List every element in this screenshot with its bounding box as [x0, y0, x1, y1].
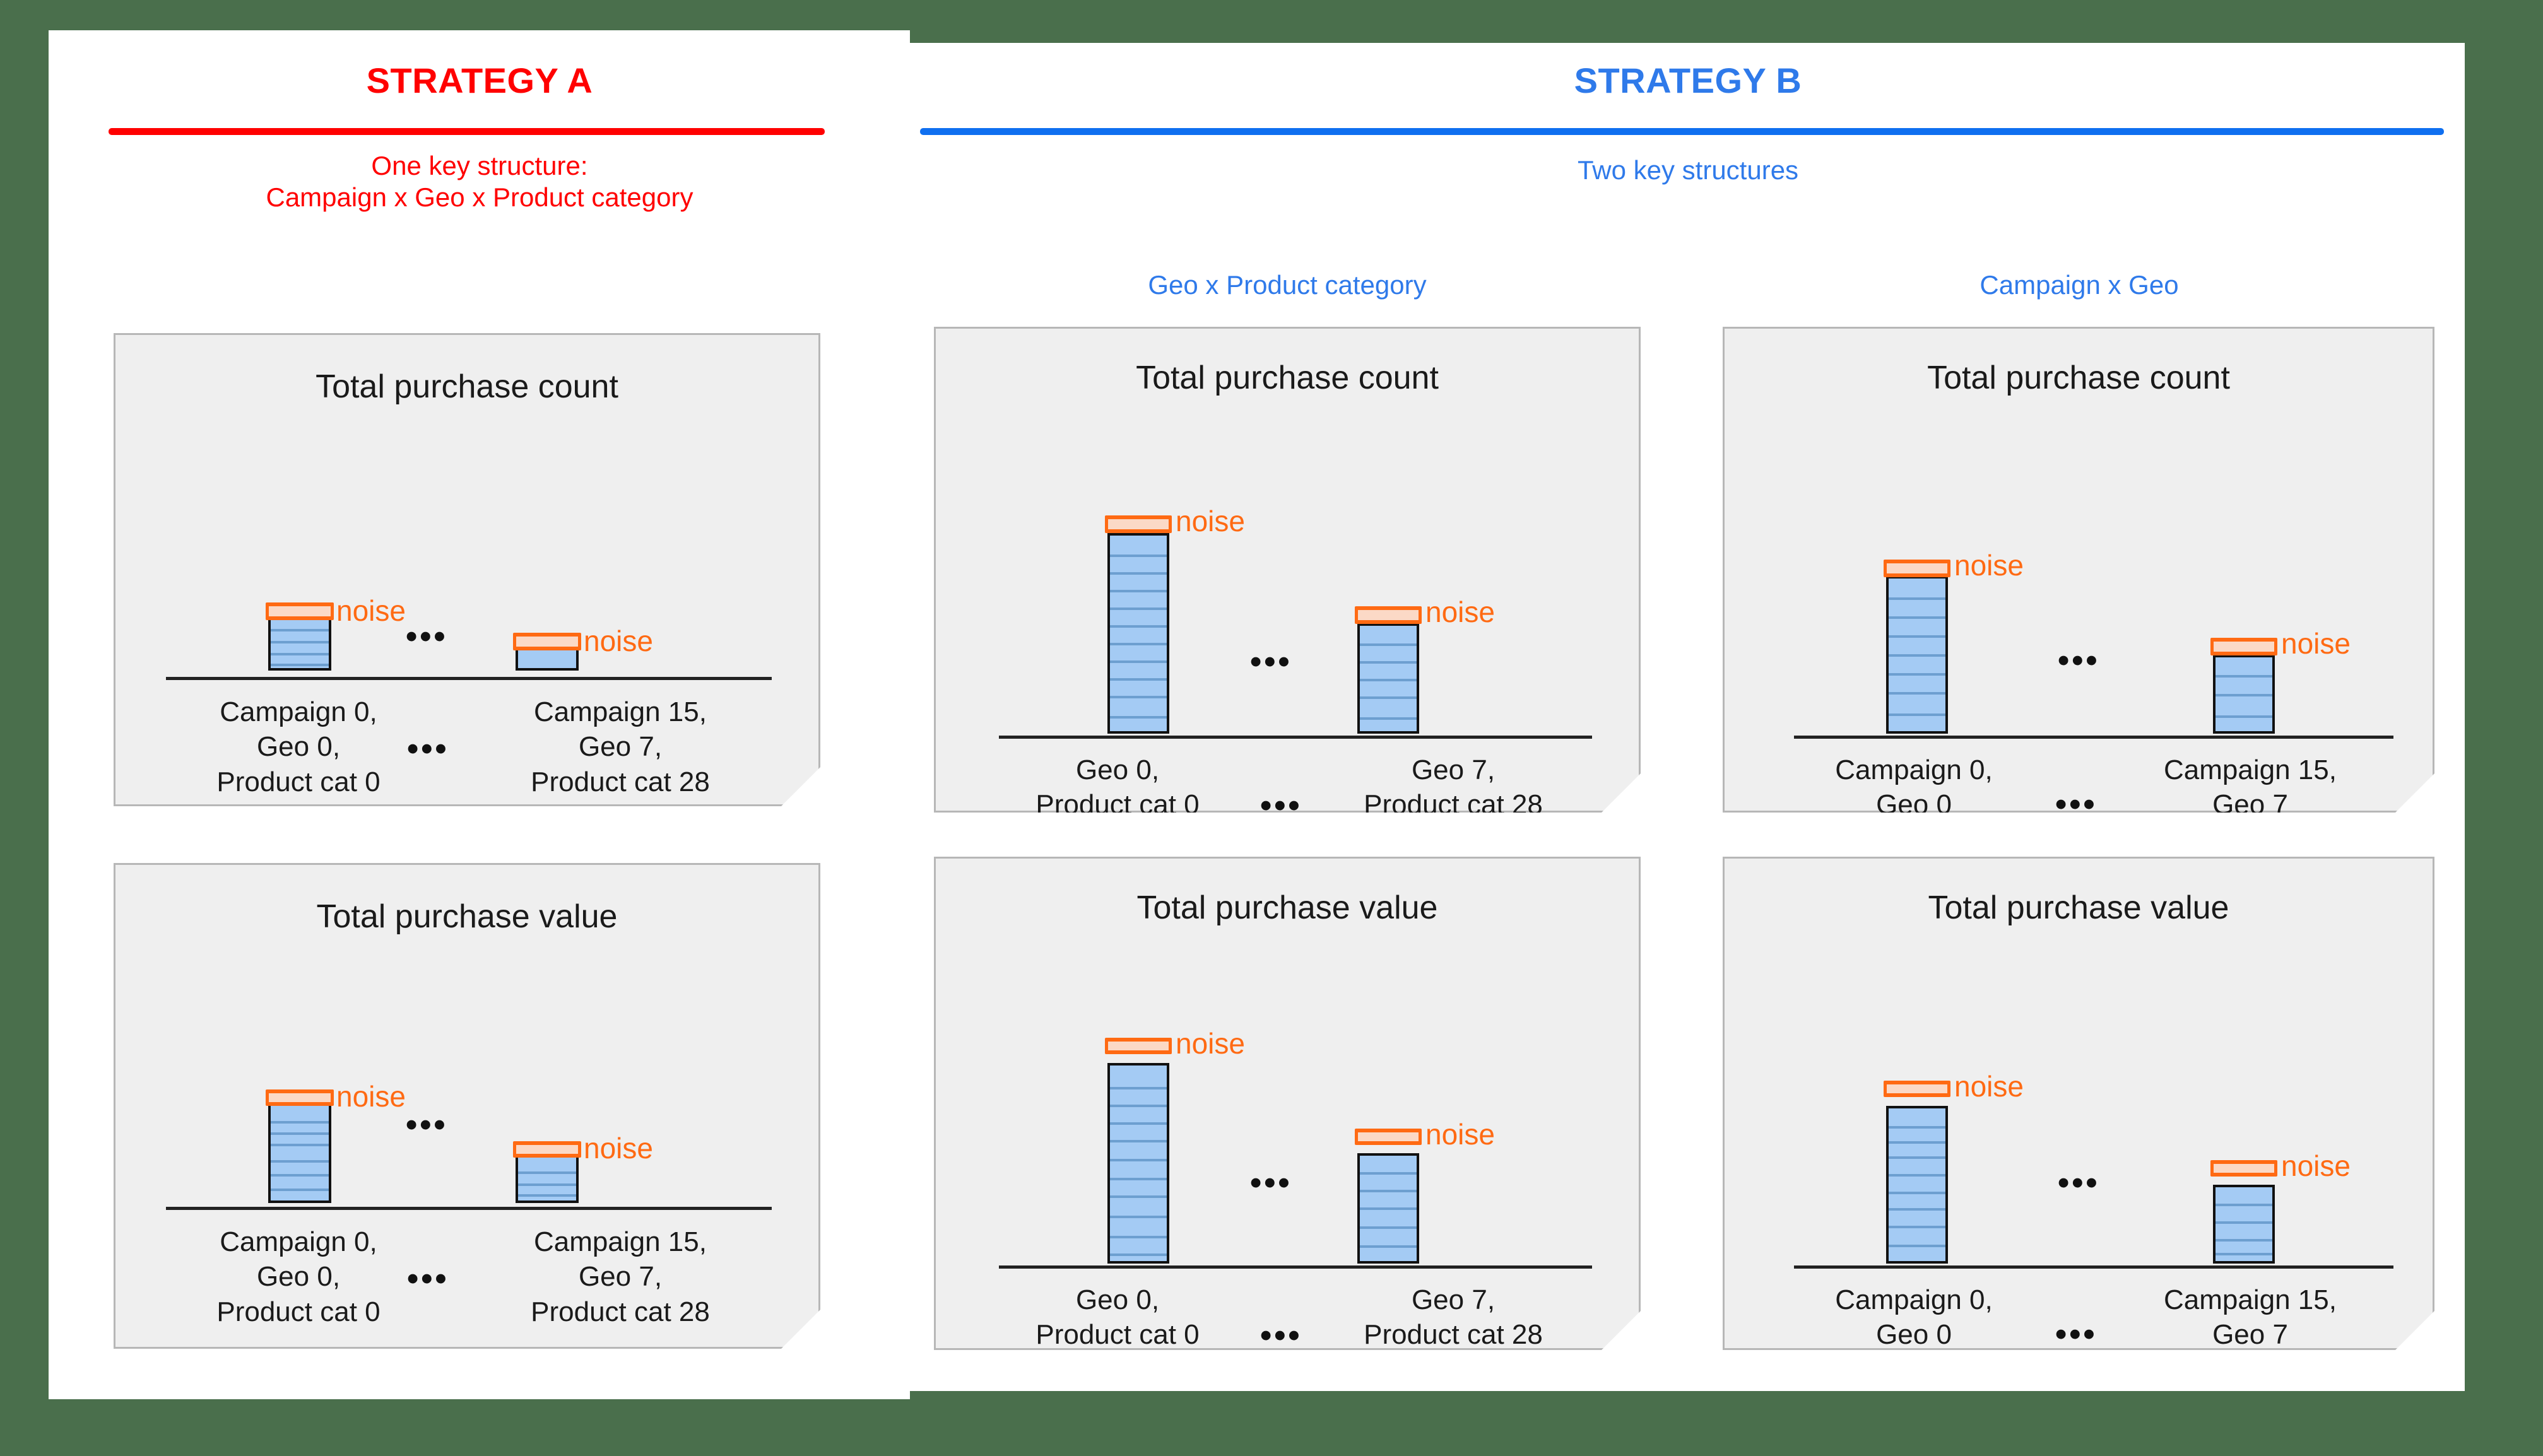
panel-b1-value: Total purchase value noise noise ••• Geo… [934, 857, 1641, 1350]
bar-signal-left [268, 613, 331, 671]
tick-label-right: Campaign 15, Geo 7, Product cat 28 [456, 1224, 784, 1329]
bar-segment [271, 653, 329, 655]
noise-cap-left [266, 1089, 334, 1106]
panel-title: Total purchase count [1725, 359, 2433, 397]
bar-segment [1110, 1236, 1167, 1238]
bar-signal-right [1357, 1153, 1419, 1264]
tick-line: Product cat 0 [147, 1295, 450, 1329]
bar-segment [271, 1121, 329, 1124]
bar-segment [1110, 660, 1167, 663]
bar-segment [271, 664, 329, 666]
bar-segment [1110, 625, 1167, 628]
tick-line: Geo 7, [456, 729, 784, 764]
bar-segment [518, 1171, 576, 1174]
tick-label-right: Campaign 15, Geo 7, Product cat 28 [456, 695, 784, 799]
noise-cap-inner [516, 1145, 578, 1154]
bar-segment [271, 641, 329, 643]
bar-segment [1110, 1140, 1167, 1142]
bar-segment [1889, 1156, 1945, 1159]
tick-line: Campaign 15, [2102, 1283, 2398, 1317]
bar-segment [1110, 1159, 1167, 1161]
strategy-a-subtitle-line-2: Campaign x Geo x Product category [114, 182, 846, 213]
tick-line: Product cat 0 [985, 1317, 1250, 1352]
tick-line: Campaign 15, [456, 1224, 784, 1259]
bar-segment [271, 629, 329, 631]
bar-segment [1360, 1207, 1417, 1210]
bar-signal-left [1886, 1106, 1948, 1264]
strategy-b-title: STRATEGY B [921, 60, 2455, 101]
panel-b2-value: Total purchase value noise noise ••• Cam… [1723, 857, 2434, 1350]
noise-label-right: noise [2281, 629, 2351, 658]
axis-line [1794, 736, 2393, 739]
bar-segment [1889, 692, 1945, 695]
bar-segment [2216, 1239, 2272, 1242]
tick-line: Campaign 15, [456, 695, 784, 729]
tick-label-left: Geo 0, Product cat 0 [985, 753, 1250, 823]
tick-label-left: Campaign 0, Geo 0 [1762, 753, 2065, 823]
bar-segment [2216, 675, 2272, 678]
bar-segment [1889, 654, 1945, 657]
ellipsis-ticks: ••• [2055, 1318, 2098, 1351]
axis-line [999, 736, 1592, 739]
bar-segment [1889, 1174, 1945, 1177]
bar-segment [1360, 717, 1417, 720]
noise-label-right: noise [2281, 1151, 2351, 1180]
bar-segment [1360, 696, 1417, 699]
noise-cap-right [1355, 606, 1422, 624]
noise-cap-right [2210, 1160, 2277, 1177]
ellipsis-ticks: ••• [1260, 1319, 1302, 1352]
bar-segment [1360, 1245, 1417, 1248]
bar-segment [271, 1160, 329, 1163]
bar-signal-left [1886, 576, 1948, 734]
bar-segment [1360, 661, 1417, 664]
noise-cap-inner [2214, 1164, 2274, 1173]
tick-label-right: Campaign 15, Geo 7 [2102, 753, 2398, 823]
bar-segment [1110, 572, 1167, 575]
bar-segment [1889, 713, 1945, 716]
axis-line [1794, 1265, 2393, 1269]
tick-line: Geo 7, [1302, 1283, 1605, 1317]
bar-segment [271, 1189, 329, 1191]
noise-cap-left [1884, 560, 1950, 577]
bar-signal-right [2213, 655, 2275, 734]
bar-segment [1110, 716, 1167, 719]
bar-segment [271, 1132, 329, 1135]
noise-cap-inner [1358, 610, 1419, 620]
tick-line: Geo 0 [1762, 1317, 2065, 1352]
tick-line: Product cat 28 [1302, 1317, 1605, 1352]
bar-segment [1110, 1253, 1167, 1256]
noise-label-right: noise [584, 1134, 653, 1163]
bar-signal-right [1357, 623, 1419, 734]
tick-line: Geo 7 [2102, 1317, 2398, 1352]
panel-title: Total purchase count [936, 359, 1639, 397]
noise-cap-inner [2214, 642, 2274, 652]
bar-segment [1110, 1195, 1167, 1198]
ellipsis-plot: ••• [2058, 644, 2100, 677]
tick-line: Product cat 28 [456, 1295, 784, 1329]
noise-cap-left [1105, 515, 1172, 533]
panel-a-count: Total purchase count noise noise ••• Cam… [114, 333, 820, 806]
tick-line: Geo 0, [147, 1259, 450, 1294]
tick-label-left: Campaign 0, Geo 0, Product cat 0 [147, 695, 450, 799]
tick-line: Geo 7, [456, 1259, 784, 1294]
noise-label-left: noise [1176, 507, 1245, 536]
noise-cap-left [1105, 1038, 1172, 1054]
bar-signal-left [1107, 533, 1169, 734]
strategy-b-subtitle: Two key structures [921, 155, 2455, 186]
panel-title: Total purchase value [1725, 889, 2433, 927]
tick-line: Geo 7, [1302, 753, 1605, 787]
bar-segment [1360, 679, 1417, 681]
noise-cap-right [513, 1141, 581, 1158]
bar-segment [1110, 643, 1167, 645]
panel-a-value: Total purchase value noise noise ••• Cam… [114, 863, 820, 1349]
bar-signal-left [268, 1102, 331, 1203]
bar-segment [1110, 696, 1167, 698]
bar-segment [271, 1144, 329, 1146]
tick-label-left: Campaign 0, Geo 0, Product cat 0 [147, 1224, 450, 1329]
tick-line: Campaign 0, [147, 695, 450, 729]
bar-segment [1110, 555, 1167, 557]
strategy-a-title: STRATEGY A [114, 60, 846, 101]
tick-label-left: Geo 0, Product cat 0 [985, 1283, 1250, 1353]
noise-cap-inner [1108, 519, 1169, 529]
tick-label-right: Geo 7, Product cat 28 [1302, 753, 1605, 823]
noise-label-left: noise [1954, 551, 2024, 580]
tick-label-right: Geo 7, Product cat 28 [1302, 1283, 1605, 1353]
bar-segment [1110, 1122, 1167, 1125]
bar-segment [518, 1194, 576, 1197]
panel-b1-count: Total purchase count noise noise ••• Geo… [934, 327, 1641, 813]
bar-segment [2216, 1204, 2272, 1206]
ellipsis-ticks: ••• [407, 1262, 449, 1295]
noise-label-left: noise [336, 596, 406, 625]
bar-segment [1889, 1245, 1945, 1247]
ellipsis-plot: ••• [406, 1108, 448, 1141]
tick-label-right: Campaign 15, Geo 7 [2102, 1283, 2398, 1353]
axis-line [166, 677, 772, 680]
bar-signal-left [1107, 1063, 1169, 1264]
noise-label-left: noise [336, 1082, 406, 1111]
bar-segment [1110, 590, 1167, 592]
bar-segment [2216, 1253, 2272, 1255]
bar-segment [1360, 1172, 1417, 1175]
noise-cap-inner [1108, 1042, 1169, 1050]
bar-segment [1889, 673, 1945, 676]
structure-label-campaign-x-geo: Campaign x Geo [1723, 270, 2436, 300]
noise-cap-inner [269, 606, 331, 616]
bar-segment [1889, 1126, 1945, 1129]
strategy-a-divider [109, 128, 825, 135]
bar-segment [1110, 1178, 1167, 1180]
tick-line: Geo 0, [985, 1283, 1250, 1317]
axis-line [166, 1207, 772, 1210]
noise-label-right: noise [584, 626, 653, 655]
noise-cap-right [513, 633, 581, 650]
bar-segment [1110, 678, 1167, 681]
ellipsis-plot: ••• [1250, 645, 1292, 678]
panel-title: Total purchase count [115, 368, 818, 406]
bar-segment [1889, 1141, 1945, 1144]
noise-cap-right [2210, 638, 2277, 655]
bar-segment [1360, 1190, 1417, 1192]
ellipsis-plot: ••• [1250, 1166, 1292, 1199]
strategy-a-subtitle: One key structure: Campaign x Geo x Prod… [114, 150, 846, 213]
strategy-b-divider [920, 128, 2444, 135]
ellipsis-plot: ••• [406, 620, 448, 653]
noise-cap-inner [516, 637, 578, 647]
axis-line [999, 1265, 1592, 1269]
noise-cap-inner [1887, 563, 1947, 573]
bar-segment [1889, 1208, 1945, 1211]
noise-cap-inner [1358, 1132, 1419, 1141]
noise-cap-left [266, 602, 334, 620]
bar-segment [518, 1183, 576, 1186]
tick-line: Product cat 28 [456, 765, 784, 799]
noise-cap-right [1355, 1129, 1422, 1145]
bar-segment [1110, 608, 1167, 610]
bar-segment [2216, 1221, 2272, 1224]
noise-cap-left [1884, 1081, 1950, 1097]
noise-label-left: noise [1954, 1072, 2024, 1101]
noise-label-right: noise [1425, 597, 1495, 626]
bar-segment [1889, 597, 1945, 600]
tick-line: Campaign 0, [147, 1224, 450, 1259]
ellipsis-plot: ••• [2058, 1166, 2100, 1199]
bar-segment [1110, 1216, 1167, 1218]
bar-segment [1889, 635, 1945, 638]
bar-segment [1110, 1105, 1167, 1107]
bar-segment [1360, 1226, 1417, 1229]
bar-segment [2216, 694, 2272, 696]
noise-cap-inner [269, 1093, 331, 1102]
bar-segment [1360, 643, 1417, 646]
tick-line: Geo 0, [147, 729, 450, 764]
tick-line: Campaign 15, [2102, 753, 2398, 787]
bar-segment [1110, 1087, 1167, 1089]
structure-label-geo-x-product: Geo x Product category [934, 270, 1641, 300]
bar-signal-right [2213, 1185, 2275, 1264]
noise-label-right: noise [1425, 1120, 1495, 1149]
tick-line: Geo 0, [985, 753, 1250, 787]
tick-label-left: Campaign 0, Geo 0 [1762, 1283, 2065, 1353]
strategy-a-subtitle-line-1: One key structure: [114, 150, 846, 182]
bar-segment [271, 1174, 329, 1177]
bar-segment [1889, 1226, 1945, 1228]
panel-title: Total purchase value [936, 889, 1639, 927]
tick-line: Product cat 0 [147, 765, 450, 799]
bar-signal-right [516, 1154, 579, 1203]
noise-label-left: noise [1176, 1029, 1245, 1058]
tick-line: Campaign 0, [1762, 1283, 2065, 1317]
bar-segment [1889, 616, 1945, 619]
bar-segment [1889, 1192, 1945, 1194]
bar-segment [2216, 715, 2272, 718]
tick-line: Campaign 0, [1762, 753, 2065, 787]
ellipsis-ticks: ••• [407, 732, 449, 765]
panel-b2-count: Total purchase count noise noise ••• Cam… [1723, 327, 2434, 813]
noise-cap-inner [1887, 1084, 1947, 1093]
panel-title: Total purchase value [115, 898, 818, 936]
